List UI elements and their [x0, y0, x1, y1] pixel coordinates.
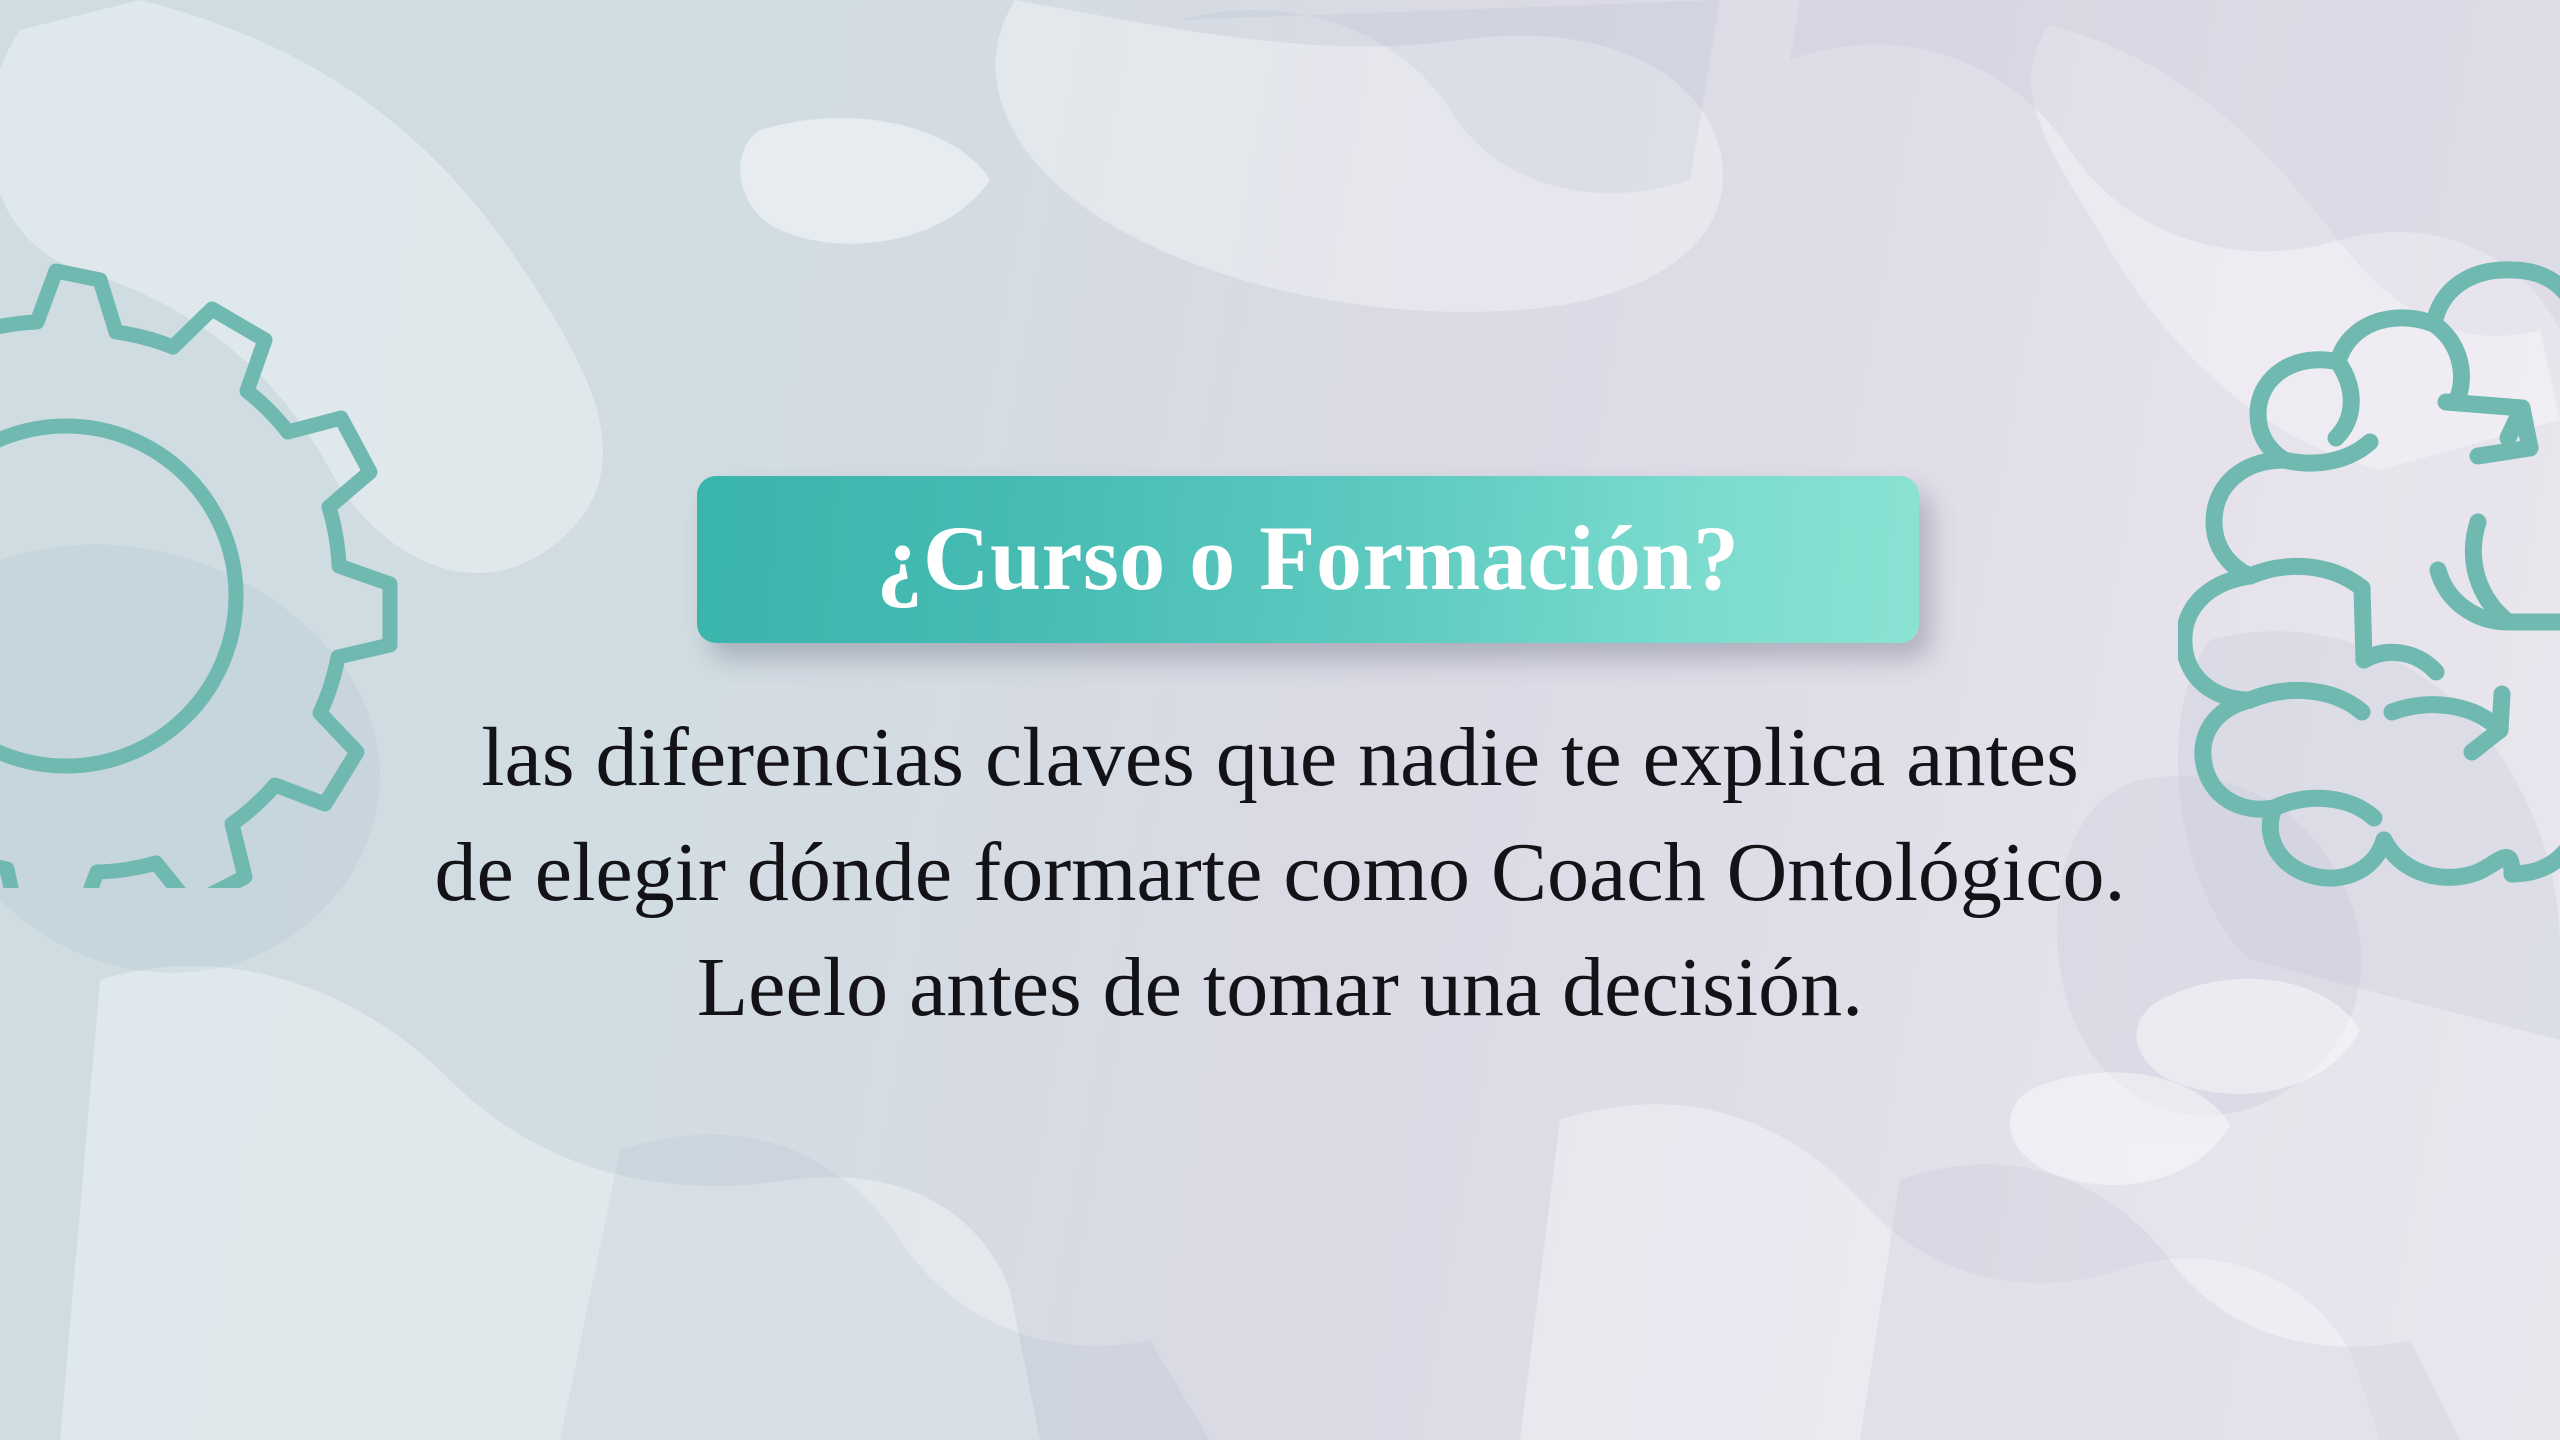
body-line-2: de elegir dónde formarte como Coach Onto…	[0, 815, 2560, 930]
slide-canvas: ¿Curso o Formación? las diferencias clav…	[0, 0, 2560, 1440]
body-copy: las diferencias claves que nadie te expl…	[0, 700, 2560, 1045]
body-line-3: Leelo antes de tomar una decisión.	[0, 930, 2560, 1045]
banner-title-text: ¿Curso o Formación?	[877, 512, 1740, 604]
body-line-1: las diferencias claves que nadie te expl…	[0, 700, 2560, 815]
title-banner: ¿Curso o Formación?	[697, 476, 1919, 643]
